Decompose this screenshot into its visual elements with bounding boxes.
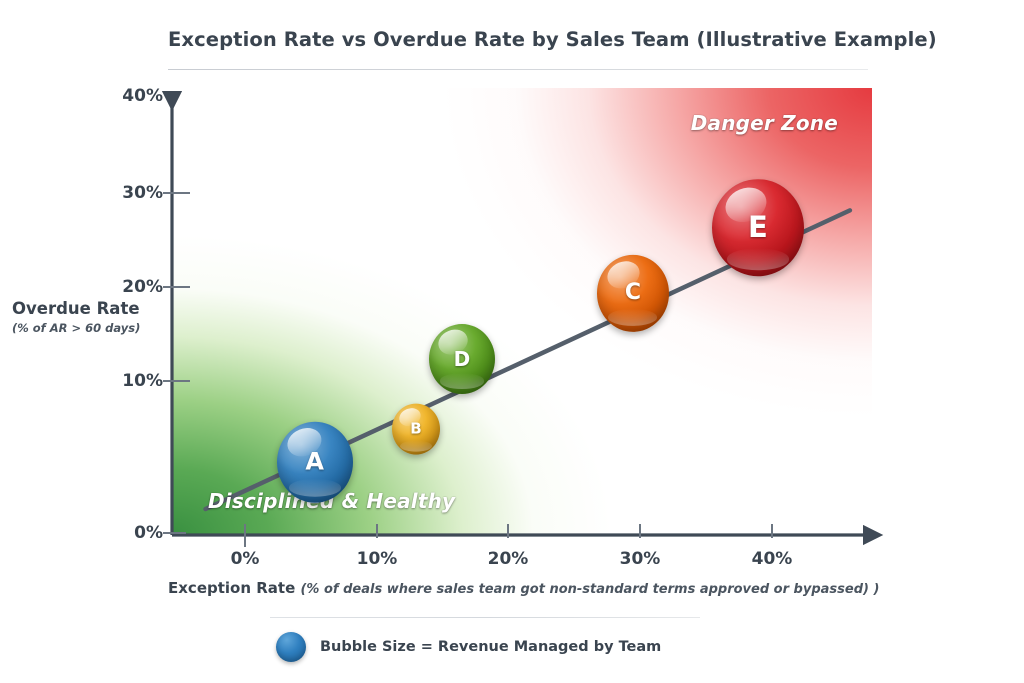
x-axis-title: Exception Rate (% of deals where sales t… xyxy=(168,578,879,597)
bubble-underlight xyxy=(400,440,433,451)
y-axis-title-sub: (% of AR > 60 days) xyxy=(12,321,162,335)
x-tick-label-0: 0% xyxy=(231,549,260,569)
bubble-a[interactable]: A xyxy=(277,422,353,503)
legend-bubble-icon xyxy=(276,632,306,662)
bubble-c[interactable]: C xyxy=(597,255,669,331)
y-tick-label-0: 0% xyxy=(134,523,163,543)
legend: Bubble Size = Revenue Managed by Team xyxy=(276,632,661,662)
bubble-underlight xyxy=(608,309,657,326)
bubble-underlight xyxy=(440,373,485,388)
bubble-underlight xyxy=(289,479,341,497)
x-axis-title-sub: (% of deals where sales team got non-sta… xyxy=(300,582,879,597)
title-divider xyxy=(168,69,868,70)
bubble-label: E xyxy=(748,213,768,242)
x-tick-label-40: 40% xyxy=(752,549,793,569)
y-tick-label-10: 10% xyxy=(122,371,163,391)
plot-area: Danger Zone Disciplined & Healthy ABDCE xyxy=(172,88,872,535)
bubble-label: D xyxy=(454,349,471,369)
legend-divider xyxy=(270,617,700,618)
legend-label: Bubble Size = Revenue Managed by Team xyxy=(320,639,661,655)
y-tick-label-40: 40% xyxy=(122,86,163,106)
y-axis-title: Overdue Rate (% of AR > 60 days) xyxy=(12,300,162,335)
x-tick-label-20: 20% xyxy=(488,549,529,569)
bubble-d[interactable]: D xyxy=(429,324,495,394)
bubble-b[interactable]: B xyxy=(392,404,440,455)
bubble-label: A xyxy=(305,450,324,474)
bubble-underlight xyxy=(727,248,790,269)
danger-zone-label: Danger Zone xyxy=(691,111,838,135)
x-axis-title-main: Exception Rate xyxy=(168,579,300,597)
chart-canvas: Exception Rate vs Overdue Rate by Sales … xyxy=(0,0,1024,683)
bubble-e[interactable]: E xyxy=(712,179,804,277)
y-tick-label-30: 30% xyxy=(122,183,163,203)
chart-title: Exception Rate vs Overdue Rate by Sales … xyxy=(168,28,937,51)
y-tick-label-20: 20% xyxy=(122,277,163,297)
x-tick-label-10: 10% xyxy=(357,549,398,569)
y-axis-title-main: Overdue Rate xyxy=(12,300,162,319)
bubble-label: C xyxy=(625,282,641,304)
x-tick-label-30: 30% xyxy=(620,549,661,569)
bubble-label: B xyxy=(410,422,421,437)
